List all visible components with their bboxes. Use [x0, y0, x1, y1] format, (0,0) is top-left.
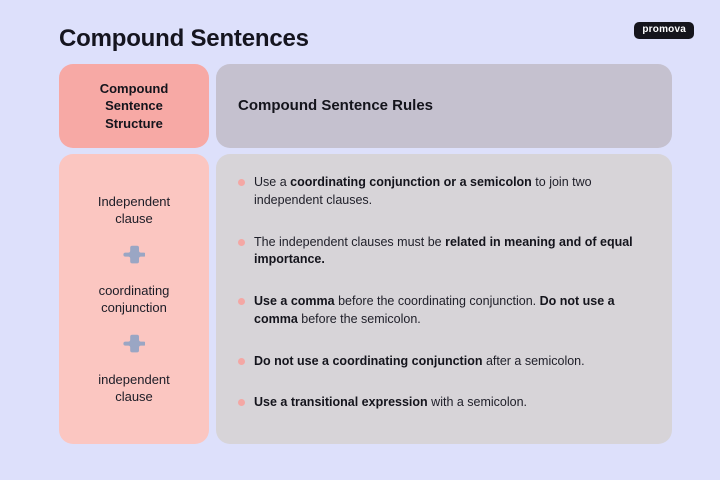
plus-icon [123, 333, 145, 355]
rule-plain: before the coordinating conjunction. [335, 294, 540, 308]
rule-item: The independent clauses must be related … [238, 234, 646, 270]
rule-emphasis: Do not use a coordinating conjunction [254, 354, 482, 368]
structure-column-header: Compound Sentence Structure [59, 64, 209, 148]
page-title: Compound Sentences [59, 25, 309, 53]
rule-item: Use a coordinating conjunction or a semi… [238, 174, 646, 210]
bullet-dot-icon [238, 298, 245, 305]
rule-emphasis: Use a transitional expression [254, 395, 428, 409]
structure-item-independent-clause-1: Independent clause [98, 193, 170, 227]
rules-list: Use a coordinating conjunction or a semi… [238, 174, 646, 412]
comparison-board: Compound Sentence Structure Compound Sen… [59, 64, 672, 444]
structure-item-line: clause [98, 210, 170, 227]
structure-header-line: Compound [100, 80, 169, 98]
bullet-dot-icon [238, 179, 245, 186]
structure-item-line: coordinating [99, 282, 170, 299]
rule-emphasis: Use a comma [254, 294, 335, 308]
rule-plain: after a semicolon. [482, 354, 584, 368]
logo-text: promova [642, 24, 686, 35]
structure-header-line: Sentence [100, 97, 169, 115]
rule-text: Do not use a coordinating conjunction af… [254, 353, 585, 371]
rules-column-header: Compound Sentence Rules [216, 64, 672, 148]
rule-item: Use a transitional expression with a sem… [238, 394, 646, 412]
bullet-dot-icon [238, 399, 245, 406]
structure-item-line: clause [98, 388, 170, 405]
rule-plain: with a semicolon. [428, 395, 527, 409]
plus-icon [123, 244, 145, 266]
structure-item-line: conjunction [99, 299, 170, 316]
structure-item-line: Independent [98, 193, 170, 210]
structure-item-independent-clause-2: independent clause [98, 371, 170, 405]
structure-item-line: independent [98, 371, 170, 388]
slide: promova Compound Sentences Compound Sent… [0, 0, 720, 480]
rule-item: Do not use a coordinating conjunction af… [238, 353, 646, 371]
bullet-dot-icon [238, 358, 245, 365]
rule-text: Use a transitional expression with a sem… [254, 394, 527, 412]
rule-text: The independent clauses must be related … [254, 234, 646, 270]
bullet-dot-icon [238, 239, 245, 246]
promova-logo: promova [634, 22, 694, 39]
structure-column-body: Independent clause coordinating conjunct… [59, 154, 209, 444]
rule-text: Use a coordinating conjunction or a semi… [254, 174, 646, 210]
rules-header-text: Compound Sentence Rules [238, 96, 433, 116]
rule-text: Use a comma before the coordinating conj… [254, 293, 646, 329]
rule-plain: before the semicolon. [298, 312, 421, 326]
rule-plain: Use a [254, 175, 290, 189]
structure-header-text: Compound Sentence Structure [100, 80, 169, 133]
rule-emphasis: coordinating conjunction or a semicolon [290, 175, 532, 189]
rules-column-body: Use a coordinating conjunction or a semi… [216, 154, 672, 444]
structure-header-line: Structure [100, 115, 169, 133]
structure-item-coordinating-conjunction: coordinating conjunction [99, 282, 170, 316]
rule-item: Use a comma before the coordinating conj… [238, 293, 646, 329]
rule-plain: The independent clauses must be [254, 235, 445, 249]
